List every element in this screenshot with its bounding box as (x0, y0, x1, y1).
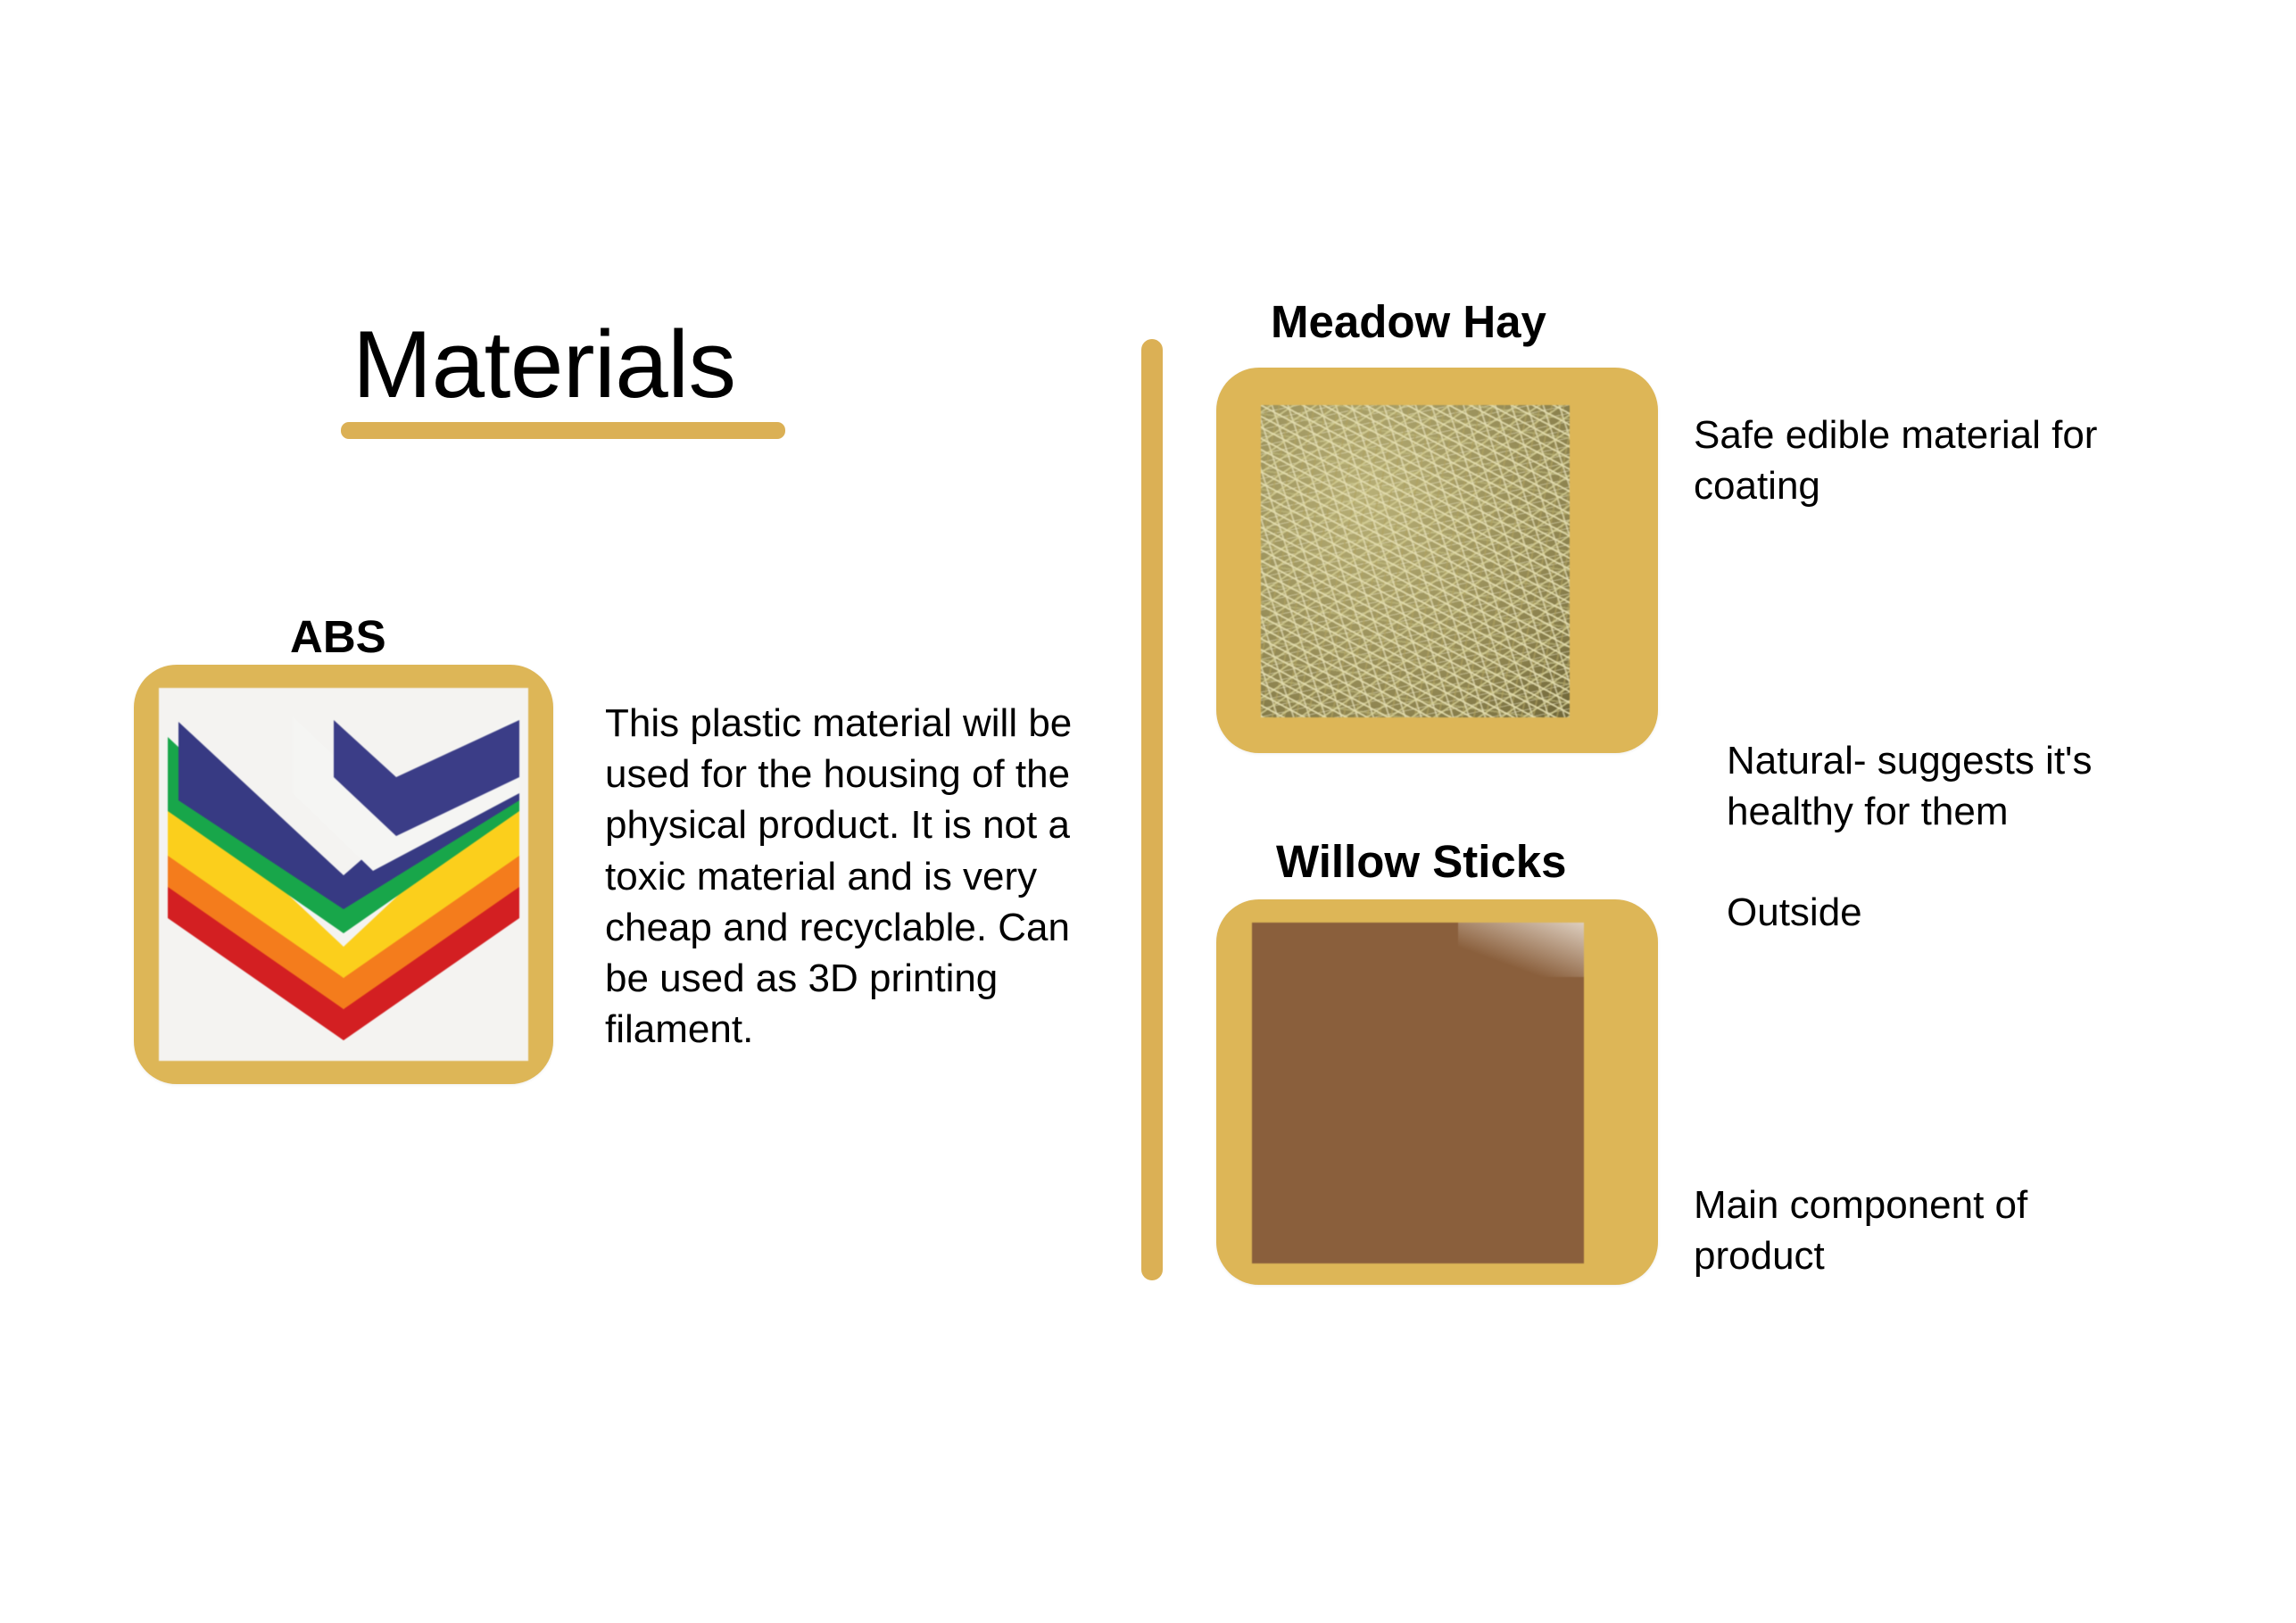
note-main-component: Main component of product (1694, 1180, 2113, 1281)
plastic-sheet-stack-illustration (159, 688, 528, 1061)
abs-heading: ABS (290, 612, 386, 662)
willow-sticks-image-frame (1216, 899, 1658, 1285)
abs-image-frame (134, 665, 553, 1084)
vertical-divider-bar (1141, 339, 1163, 1280)
meadow-hay-photo (1261, 405, 1570, 717)
page-title: Materials (352, 314, 736, 414)
slide-canvas: Materials ABS This pla (0, 0, 2296, 1623)
willow-sticks-photo (1252, 923, 1584, 1263)
note-safe-edible-coating: Safe edible material for coating (1694, 410, 2176, 511)
willow-sticks-heading: Willow Sticks (1276, 837, 1566, 887)
title-underline-bar (341, 422, 785, 439)
meadow-hay-image-frame (1216, 368, 1658, 753)
abs-plastic-sheets-photo (159, 688, 528, 1061)
note-outside: Outside (1727, 887, 2084, 938)
note-natural-healthy: Natural- suggests it's healthy for them (1727, 735, 2200, 837)
meadow-hay-heading: Meadow Hay (1271, 297, 1546, 347)
abs-description: This plastic material will be used for t… (605, 698, 1096, 1055)
